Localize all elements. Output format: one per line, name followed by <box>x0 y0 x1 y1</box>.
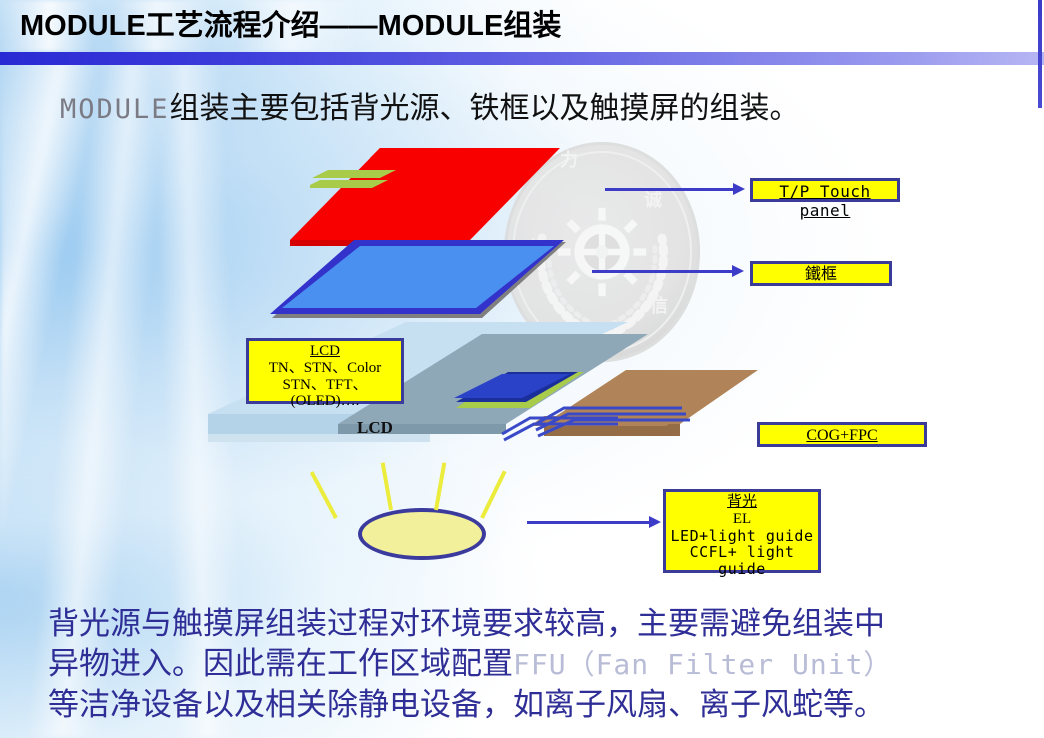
body-line-3: 等洁净设备以及相关除静电设备，如离子风扇、离子风蛇等。 <box>48 685 1044 725</box>
light-ray-4 <box>480 470 506 518</box>
seal-char-3: 信 <box>650 292 668 318</box>
callout-lcd: LCD TN、STN、Color STN、TFT、(OLED)…. <box>246 338 404 404</box>
arrow-backlight-head <box>649 516 661 528</box>
subtitle-cjk: 组装主要包括背光源、铁框以及触摸屏的组装。 <box>170 92 800 125</box>
seal-char-4: 力 <box>560 146 578 172</box>
body-paragraph: 背光源与触摸屏组装过程对环境要求较高，主要需避免组装中 异物进入。因此需在工作区… <box>48 604 1044 725</box>
arrow-backlight-line <box>527 521 651 524</box>
light-ray-1 <box>310 471 338 519</box>
callout-backlight-line-2: EL <box>666 511 818 528</box>
callout-backlight: 背光 EL LED+light guide CCFL+ light guide <box>663 489 821 573</box>
arrow-iron-frame-head <box>732 265 744 277</box>
callout-cog-fpc-line-1: COG+FPC <box>806 427 877 444</box>
iron-frame-shape <box>270 240 570 330</box>
body-line-2-latin: FFU（Fan Filter Unit） <box>513 648 892 681</box>
fpc-connector-traces <box>500 400 620 444</box>
callout-lcd-line-1: LCD <box>249 343 401 360</box>
touch-panel-fpc-tail <box>310 168 400 194</box>
arrow-iron-frame-line <box>592 270 734 273</box>
light-ray-3 <box>434 462 446 510</box>
right-edge-accent <box>1038 0 1042 108</box>
lcd-panel-caption: LCD <box>357 418 393 438</box>
callout-iron-frame-line-1: 鐵框 <box>805 266 837 283</box>
header-divider <box>0 52 1044 65</box>
callout-lcd-line-2: TN、STN、Color <box>249 360 401 377</box>
body-line-2-cjk: 异物进入。因此需在工作区域配置 <box>48 646 513 681</box>
callout-cog-fpc: COG+FPC <box>757 422 927 447</box>
light-ray-2 <box>381 462 393 510</box>
subtitle-latin: MODULE <box>60 94 170 125</box>
arrow-touch-panel-head <box>733 183 745 195</box>
body-line-2: 异物进入。因此需在工作区域配置FFU（Fan Filter Unit） <box>48 644 1044 685</box>
callout-backlight-line-3: LED+light guide <box>666 528 818 545</box>
callout-lcd-line-3: STN、TFT、(OLED)…. <box>249 377 401 411</box>
backlight-lamp-icon <box>358 508 486 560</box>
callout-touch-panel: T/P Touch panel <box>750 178 900 202</box>
arrow-touch-panel-line <box>605 188 735 191</box>
callout-backlight-line-1: 背光 <box>666 494 818 511</box>
callout-backlight-line-4: CCFL+ light guide <box>666 544 818 578</box>
callout-touch-panel-line-1: T/P Touch panel <box>779 182 870 220</box>
page-title: MODULE工艺流程介绍——MODULE组装 <box>20 2 561 44</box>
slide-canvas: MODULE工艺流程介绍——MODULE组装 MODULE组装主要包括背光源、铁… <box>0 0 1044 738</box>
subtitle: MODULE组装主要包括背光源、铁框以及触摸屏的组装。 <box>60 83 800 127</box>
callout-iron-frame: 鐵框 <box>750 261 892 286</box>
body-line-1: 背光源与触摸屏组装过程对环境要求较高，主要需避免组装中 <box>48 604 1044 644</box>
